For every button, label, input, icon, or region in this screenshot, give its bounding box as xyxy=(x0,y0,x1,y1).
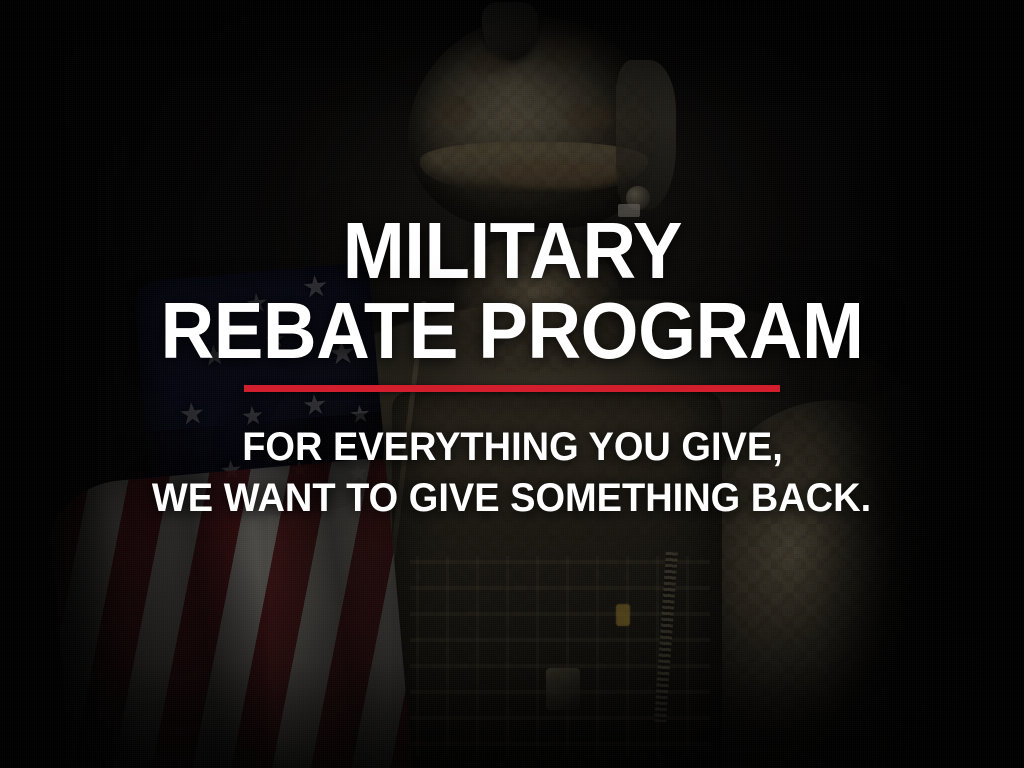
military-rebate-poster: ★ ★ ★ ★ ★ ★ ★ ★ ★ ★ ★ ★ MILITARY REBATE … xyxy=(0,0,1024,768)
red-divider-rule xyxy=(244,385,780,392)
subhead-line-1: FOR EVERYTHING YOU GIVE, xyxy=(242,426,783,468)
text-overlay: MILITARY REBATE PROGRAM FOR EVERYTHING Y… xyxy=(0,0,1024,768)
headline-line-2: REBATE PROGRAM xyxy=(160,294,863,368)
headline-line-1: MILITARY xyxy=(342,214,681,288)
subhead-line-2: WE WANT TO GIVE SOMETHING BACK. xyxy=(152,477,871,519)
